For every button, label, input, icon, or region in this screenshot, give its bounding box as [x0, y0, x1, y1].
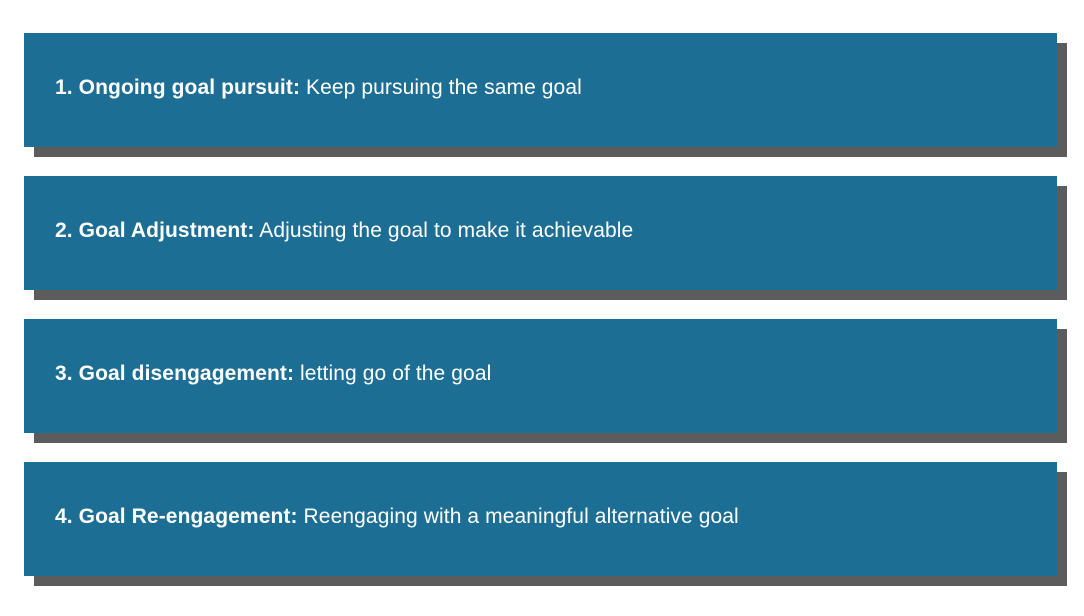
banner-text: 2. Goal Adjustment: Adjusting the goal t… [55, 218, 633, 244]
banner-title: 3. Goal disengagement: [55, 362, 294, 385]
banner-item-3: 3. Goal disengagement: letting go of the… [24, 319, 1057, 433]
banner-description: letting go of the goal [300, 362, 491, 385]
banner-description: Keep pursuing the same goal [306, 76, 582, 99]
banner-panel: 4. Goal Re-engagement: Reengaging with a… [24, 462, 1057, 576]
banner-list: 1. Ongoing goal pursuit: Keep pursuing t… [0, 0, 1084, 616]
banner-title: 1. Ongoing goal pursuit: [55, 76, 300, 99]
banner-item-2: 2. Goal Adjustment: Adjusting the goal t… [24, 176, 1057, 290]
banner-panel: 2. Goal Adjustment: Adjusting the goal t… [24, 176, 1057, 290]
banner-item-4: 4. Goal Re-engagement: Reengaging with a… [24, 462, 1057, 576]
banner-panel: 3. Goal disengagement: letting go of the… [24, 319, 1057, 433]
banner-panel: 1. Ongoing goal pursuit: Keep pursuing t… [24, 33, 1057, 147]
banner-text: 3. Goal disengagement: letting go of the… [55, 361, 491, 387]
banner-description: Reengaging with a meaningful alternative… [304, 505, 739, 528]
banner-text: 4. Goal Re-engagement: Reengaging with a… [55, 504, 739, 530]
banner-text: 1. Ongoing goal pursuit: Keep pursuing t… [55, 75, 582, 101]
banner-title: 4. Goal Re-engagement: [55, 505, 298, 528]
banner-item-1: 1. Ongoing goal pursuit: Keep pursuing t… [24, 33, 1057, 147]
banner-description: Adjusting the goal to make it achievable [259, 219, 633, 242]
banner-title: 2. Goal Adjustment: [55, 219, 254, 242]
